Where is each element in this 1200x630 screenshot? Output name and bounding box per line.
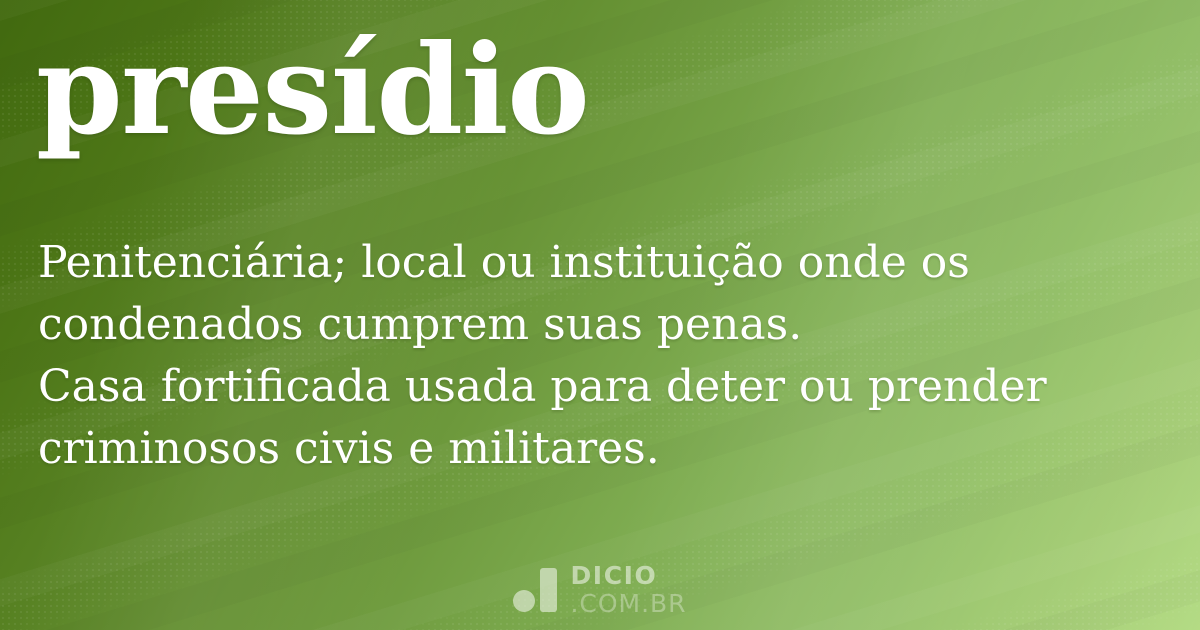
brand-logo-mark: [513, 568, 557, 612]
brand-watermark: DICIO .COM.BR: [0, 563, 1200, 616]
definition-list: Penitenciária; local ou instituição onde…: [38, 232, 1158, 480]
brand-wordmark: DICIO .COM.BR: [570, 563, 686, 616]
card-content: presídio Penitenciária; local ou institu…: [0, 0, 1200, 630]
rounded-bar-icon: [540, 568, 557, 612]
dictionary-entry-card: presídio Penitenciária; local ou institu…: [0, 0, 1200, 630]
brand-domain-label: .COM.BR: [570, 591, 686, 616]
circle-icon: [513, 590, 535, 612]
headword-title: presídio: [36, 18, 588, 164]
definition-item: Penitenciária; local ou instituição onde…: [38, 232, 1158, 356]
definition-item: Casa fortificada usada para deter ou pre…: [38, 356, 1158, 480]
brand-name-label: DICIO: [570, 563, 686, 588]
